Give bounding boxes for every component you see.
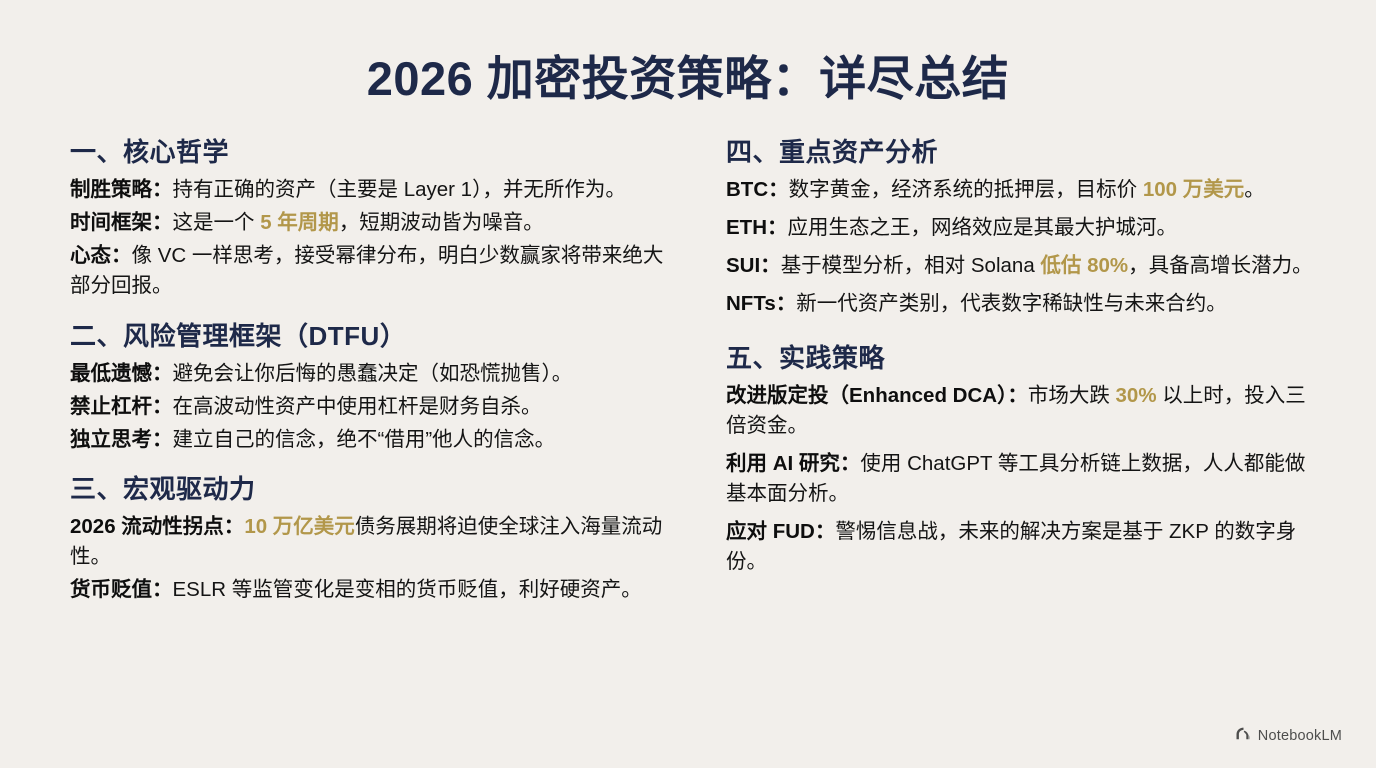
bullet-text: 在高波动性资产中使用杠杆是财务自杀。 — [173, 395, 542, 418]
bullet-label: 利用 AI 研究： — [726, 452, 860, 475]
bullet-label: 最低遗憾： — [70, 362, 173, 385]
content-section: 三、宏观驱动力2026 流动性拐点：10 万亿美元债务展期将迫使全球注入海量流动… — [70, 469, 664, 605]
bullet-line: 最低遗憾：避免会让你后悔的愚蠢决定（如恐慌抛售）。 — [70, 359, 664, 389]
bullet-label: 独立思考： — [70, 428, 173, 451]
bullet-label: ETH： — [726, 216, 788, 239]
bullet-label: NFTs： — [726, 292, 796, 315]
bullet-line: 货币贬值：ESLR 等监管变化是变相的货币贬值，利好硬资产。 — [70, 575, 664, 605]
bullet-text: 持有正确的资产（主要是 Layer 1），并无所作为。 — [173, 178, 626, 201]
bullet-label: 禁止杠杆： — [70, 395, 173, 418]
bullet-line: NFTs：新一代资产类别，代表数字稀缺性与未来合约。 — [726, 289, 1320, 319]
slide-canvas: 2026 加密投资策略：详尽总结 一、核心哲学制胜策略：持有正确的资产（主要是 … — [0, 0, 1376, 768]
notebooklm-logo-icon — [1235, 726, 1252, 746]
section-heading: 五、实践策略 — [726, 338, 1320, 375]
content-section: 五、实践策略改进版定投（Enhanced DCA）：市场大跌 30% 以上时，投… — [726, 338, 1320, 578]
bullet-line: 改进版定投（Enhanced DCA）：市场大跌 30% 以上时，投入三倍资金。 — [726, 381, 1320, 441]
bullet-line: ETH：应用生态之王，网络效应是其最大护城河。 — [726, 213, 1320, 243]
bullet-line: 2026 流动性拐点：10 万亿美元债务展期将迫使全球注入海量流动性。 — [70, 512, 664, 572]
page-title: 2026 加密投资策略：详尽总结 — [56, 52, 1320, 106]
bullet-text: 建立自己的信念，绝不“借用”他人的信念。 — [173, 428, 556, 451]
content-section: 四、重点资产分析BTC：数字黄金，经济系统的抵押层，目标价 100 万美元。ET… — [726, 132, 1320, 320]
bullet-text-tail: ，短期波动皆为噪音。 — [339, 211, 544, 234]
bullet-text: 数字黄金，经济系统的抵押层，目标价 — [789, 178, 1143, 201]
bullet-label: 货币贬值： — [70, 578, 173, 601]
bullet-text: 这是一个 — [173, 211, 261, 234]
bullet-text: ESLR 等监管变化是变相的货币贬值，利好硬资产。 — [173, 578, 642, 601]
bullet-text: 避免会让你后悔的愚蠢决定（如恐慌抛售）。 — [173, 362, 573, 385]
bullet-line: 制胜策略：持有正确的资产（主要是 Layer 1），并无所作为。 — [70, 175, 664, 205]
bullet-line: SUI：基于模型分析，相对 Solana 低估 80%，具备高增长潜力。 — [726, 251, 1320, 281]
bullet-line: 独立思考：建立自己的信念，绝不“借用”他人的信念。 — [70, 425, 664, 455]
bullet-label: SUI： — [726, 254, 781, 277]
highlighted-value: 低估 80% — [1040, 254, 1128, 277]
bullet-line: 禁止杠杆：在高波动性资产中使用杠杆是财务自杀。 — [70, 392, 664, 422]
highlighted-value: 10 万亿美元 — [244, 515, 355, 538]
highlighted-value: 30% — [1116, 384, 1157, 407]
bullet-text: 新一代资产类别，代表数字稀缺性与未来合约。 — [796, 292, 1227, 315]
content-section: 一、核心哲学制胜策略：持有正确的资产（主要是 Layer 1），并无所作为。时间… — [70, 132, 664, 302]
bullet-label: 应对 FUD： — [726, 520, 835, 543]
bullet-line: 心态：像 VC 一样思考，接受幂律分布，明白少数赢家将带来绝大部分回报。 — [70, 241, 664, 301]
section-heading: 二、风险管理框架（DTFU） — [70, 316, 664, 353]
highlighted-value: 5 年周期 — [260, 211, 339, 234]
section-heading: 一、核心哲学 — [70, 132, 664, 169]
watermark-label: NotebookLM — [1258, 728, 1342, 744]
notebooklm-watermark: NotebookLM — [1235, 726, 1342, 746]
bullet-text: 应用生态之王，网络效应是其最大护城河。 — [788, 216, 1178, 239]
bullet-text: 像 VC 一样思考，接受幂律分布，明白少数赢家将带来绝大部分回报。 — [70, 244, 663, 297]
bullet-text-tail: 。 — [1244, 178, 1265, 201]
left-column: 一、核心哲学制胜策略：持有正确的资产（主要是 Layer 1），并无所作为。时间… — [56, 132, 668, 609]
bullet-label: 2026 流动性拐点： — [70, 515, 244, 538]
bullet-line: 利用 AI 研究：使用 ChatGPT 等工具分析链上数据，人人都能做基本面分析… — [726, 449, 1320, 509]
bullet-label: BTC： — [726, 178, 789, 201]
bullet-label: 时间框架： — [70, 211, 173, 234]
bullet-label: 制胜策略： — [70, 178, 173, 201]
bullet-line: 时间框架：这是一个 5 年周期，短期波动皆为噪音。 — [70, 208, 664, 238]
bullet-text-tail: ，具备高增长潜力。 — [1128, 254, 1313, 277]
content-columns: 一、核心哲学制胜策略：持有正确的资产（主要是 Layer 1），并无所作为。时间… — [56, 132, 1320, 609]
bullet-line: 应对 FUD：警惕信息战，未来的解决方案是基于 ZKP 的数字身份。 — [726, 517, 1320, 577]
bullet-label: 改进版定投（Enhanced DCA）： — [726, 384, 1028, 407]
bullet-line: BTC：数字黄金，经济系统的抵押层，目标价 100 万美元。 — [726, 175, 1320, 205]
section-heading: 三、宏观驱动力 — [70, 469, 664, 506]
right-column: 四、重点资产分析BTC：数字黄金，经济系统的抵押层，目标价 100 万美元。ET… — [708, 132, 1320, 585]
bullet-text: 基于模型分析，相对 Solana — [781, 254, 1041, 277]
bullet-label: 心态： — [70, 244, 132, 267]
bullet-text: 市场大跌 — [1028, 384, 1116, 407]
content-section: 二、风险管理框架（DTFU）最低遗憾：避免会让你后悔的愚蠢决定（如恐慌抛售）。禁… — [70, 316, 664, 455]
section-heading: 四、重点资产分析 — [726, 132, 1320, 169]
highlighted-value: 100 万美元 — [1143, 178, 1244, 201]
